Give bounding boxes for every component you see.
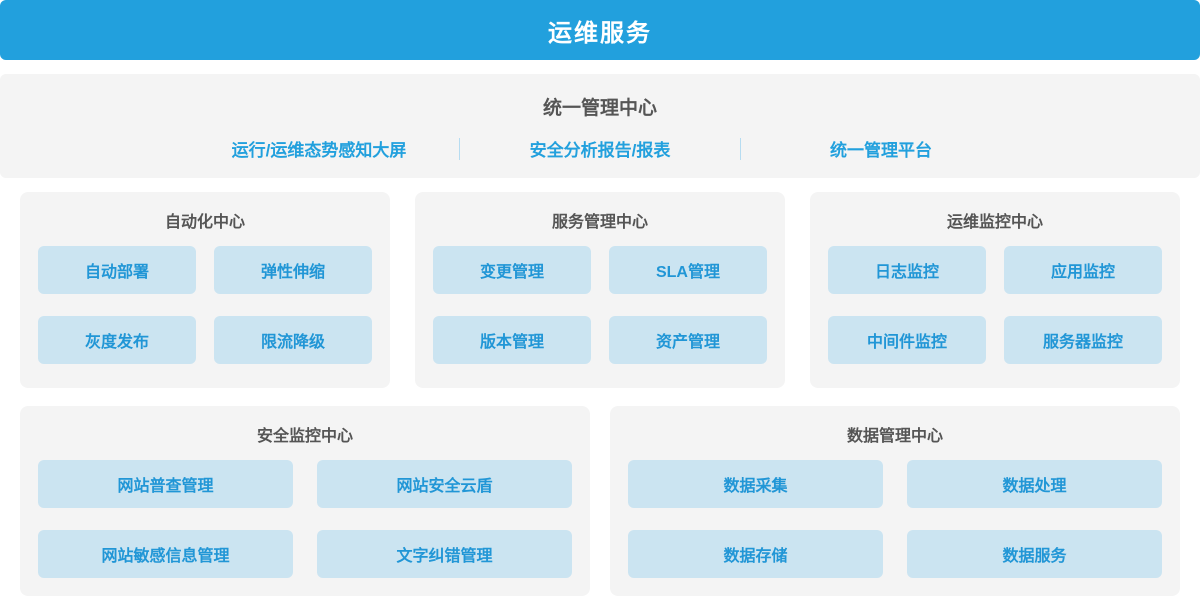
tile-website-sensitive-info-management[interactable]: 网站敏感信息管理 xyxy=(38,530,293,578)
panel-security-monitoring-center: 安全监控中心 网站普查管理 网站安全云盾 网站敏感信息管理 文字纠错管理 xyxy=(20,406,590,596)
mgmt-link-unified-platform[interactable]: 统一管理平台 xyxy=(741,136,1021,161)
unified-management-center-section: 统一管理中心 运行/运维态势感知大屏 安全分析报告/报表 统一管理平台 xyxy=(0,74,1200,178)
panel-title-ops-monitoring-center: 运维监控中心 xyxy=(828,208,1162,232)
tile-sla-management[interactable]: SLA管理 xyxy=(609,246,767,294)
tile-application-monitoring[interactable]: 应用监控 xyxy=(1004,246,1162,294)
tile-grid-automation-center: 自动部署 弹性伸缩 灰度发布 限流降级 xyxy=(38,246,372,364)
mgmt-link-situation-dashboard[interactable]: 运行/运维态势感知大屏 xyxy=(179,136,459,161)
tile-website-census-management[interactable]: 网站普查管理 xyxy=(38,460,293,508)
tile-data-storage[interactable]: 数据存储 xyxy=(628,530,883,578)
panel-title-service-management-center: 服务管理中心 xyxy=(433,208,767,232)
tile-gray-release[interactable]: 灰度发布 xyxy=(38,316,196,364)
tile-version-management[interactable]: 版本管理 xyxy=(433,316,591,364)
tile-website-security-cloud-shield[interactable]: 网站安全云盾 xyxy=(317,460,572,508)
tile-log-monitoring[interactable]: 日志监控 xyxy=(828,246,986,294)
tile-data-processing[interactable]: 数据处理 xyxy=(907,460,1162,508)
panel-title-automation-center: 自动化中心 xyxy=(38,208,372,232)
tile-change-management[interactable]: 变更管理 xyxy=(433,246,591,294)
tile-grid-data-management-center: 数据采集 数据处理 数据存储 数据服务 xyxy=(628,460,1162,578)
panel-title-security-monitoring-center: 安全监控中心 xyxy=(38,422,572,446)
tile-grid-ops-monitoring-center: 日志监控 应用监控 中间件监控 服务器监控 xyxy=(828,246,1162,364)
tile-server-monitoring[interactable]: 服务器监控 xyxy=(1004,316,1162,364)
panel-data-management-center: 数据管理中心 数据采集 数据处理 数据存储 数据服务 xyxy=(610,406,1180,596)
tile-grid-service-management-center: 变更管理 SLA管理 版本管理 资产管理 xyxy=(433,246,767,364)
tile-elastic-scaling[interactable]: 弹性伸缩 xyxy=(214,246,372,294)
tile-asset-management[interactable]: 资产管理 xyxy=(609,316,767,364)
tile-grid-security-monitoring-center: 网站普查管理 网站安全云盾 网站敏感信息管理 文字纠错管理 xyxy=(38,460,572,578)
unified-management-center-links: 运行/运维态势感知大屏 安全分析报告/报表 统一管理平台 xyxy=(0,136,1200,161)
panel-title-data-management-center: 数据管理中心 xyxy=(628,422,1162,446)
tile-rate-limit-degrade[interactable]: 限流降级 xyxy=(214,316,372,364)
mgmt-link-security-report[interactable]: 安全分析报告/报表 xyxy=(460,136,740,161)
unified-management-center-title: 统一管理中心 xyxy=(543,93,657,120)
tile-auto-deploy[interactable]: 自动部署 xyxy=(38,246,196,294)
tile-data-collection[interactable]: 数据采集 xyxy=(628,460,883,508)
panel-ops-monitoring-center: 运维监控中心 日志监控 应用监控 中间件监控 服务器监控 xyxy=(810,192,1180,388)
panel-automation-center: 自动化中心 自动部署 弹性伸缩 灰度发布 限流降级 xyxy=(20,192,390,388)
page-title: 运维服务 xyxy=(548,13,652,48)
tile-middleware-monitoring[interactable]: 中间件监控 xyxy=(828,316,986,364)
tile-data-service[interactable]: 数据服务 xyxy=(907,530,1162,578)
tile-text-proofreading-management[interactable]: 文字纠错管理 xyxy=(317,530,572,578)
page-banner: 运维服务 xyxy=(0,0,1200,60)
panel-service-management-center: 服务管理中心 变更管理 SLA管理 版本管理 资产管理 xyxy=(415,192,785,388)
ops-service-architecture-diagram: 运维服务 统一管理中心 运行/运维态势感知大屏 安全分析报告/报表 统一管理平台… xyxy=(0,0,1200,602)
